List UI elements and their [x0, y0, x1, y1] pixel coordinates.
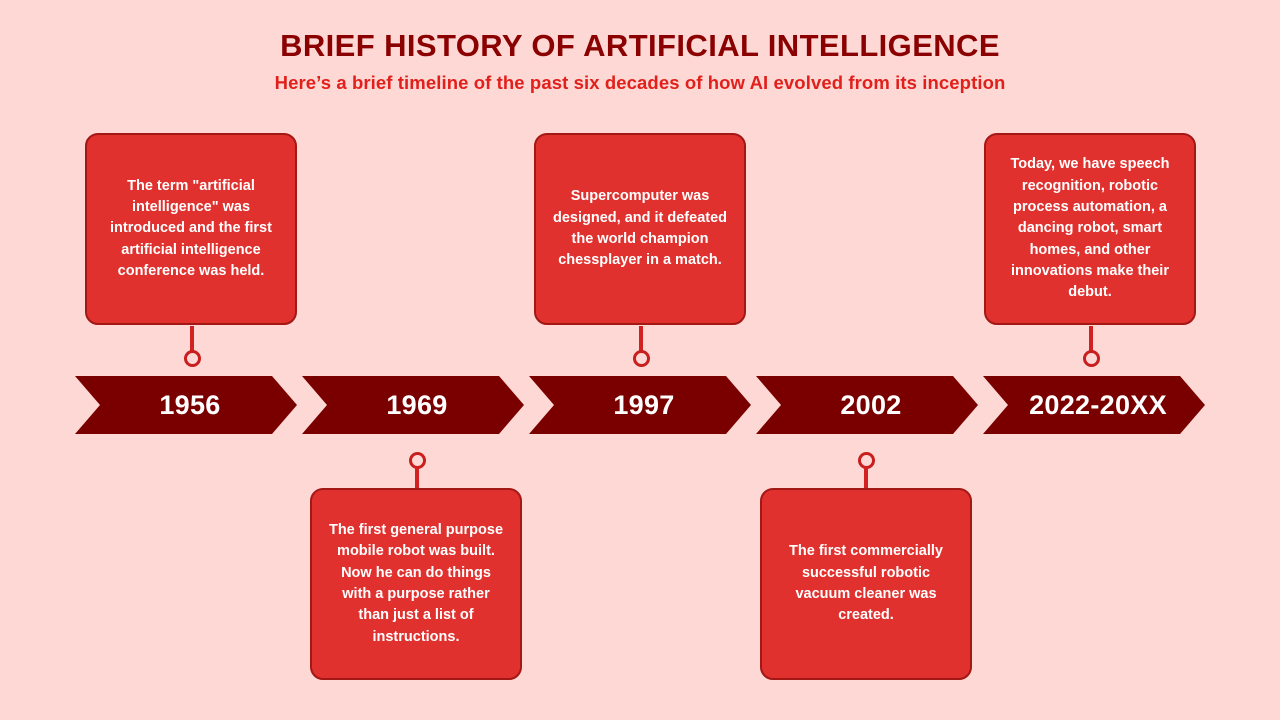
milestone-description: Supercomputer was designed, and it defea… — [552, 186, 728, 271]
milestone-card-2022-20xx: Today, we have speech recognition, robot… — [984, 133, 1196, 325]
milestone-description: The term "artificial intelligence" was i… — [103, 176, 279, 283]
timeline-chevron-1956[interactable]: 1956 — [75, 376, 297, 434]
milestone-card-1997: Supercomputer was designed, and it defea… — [534, 133, 746, 325]
milestone-card-1969: The first general purpose mobile robot w… — [310, 488, 522, 680]
chevron-year-label: 2022-20XX — [1021, 390, 1167, 421]
chevron-year-label: 1969 — [378, 390, 447, 421]
timeline-bar: 1956 1969 1997 2002 2022-20XX — [75, 376, 1205, 434]
connector-dot-icon — [184, 350, 201, 367]
connector-2022-20xx — [1081, 326, 1101, 368]
milestone-description: The first general purpose mobile robot w… — [328, 520, 504, 648]
page-title: BRIEF HISTORY OF ARTIFICIAL INTELLIGENCE — [0, 28, 1280, 65]
timeline-chevron-1997[interactable]: 1997 — [529, 376, 751, 434]
chevron-year-label: 2002 — [832, 390, 901, 421]
timeline-chevron-2002[interactable]: 2002 — [756, 376, 978, 434]
connector-dot-icon — [1083, 350, 1100, 367]
infographic-header: BRIEF HISTORY OF ARTIFICIAL INTELLIGENCE… — [0, 0, 1280, 94]
timeline-chevron-2022-20xx[interactable]: 2022-20XX — [983, 376, 1205, 434]
connector-dot-icon — [633, 350, 650, 367]
page-subtitle: Here’s a brief timeline of the past six … — [0, 72, 1280, 94]
milestone-description: Today, we have speech recognition, robot… — [1002, 154, 1178, 303]
chevron-year-label: 1956 — [151, 390, 220, 421]
milestone-description: The first commercially successful roboti… — [778, 541, 954, 626]
chevron-year-label: 1997 — [605, 390, 674, 421]
milestone-card-2002: The first commercially successful roboti… — [760, 488, 972, 680]
milestone-card-1956: The term "artificial intelligence" was i… — [85, 133, 297, 325]
timeline-chevron-1969[interactable]: 1969 — [302, 376, 524, 434]
connector-1956 — [182, 326, 202, 368]
connector-1997 — [631, 326, 651, 368]
